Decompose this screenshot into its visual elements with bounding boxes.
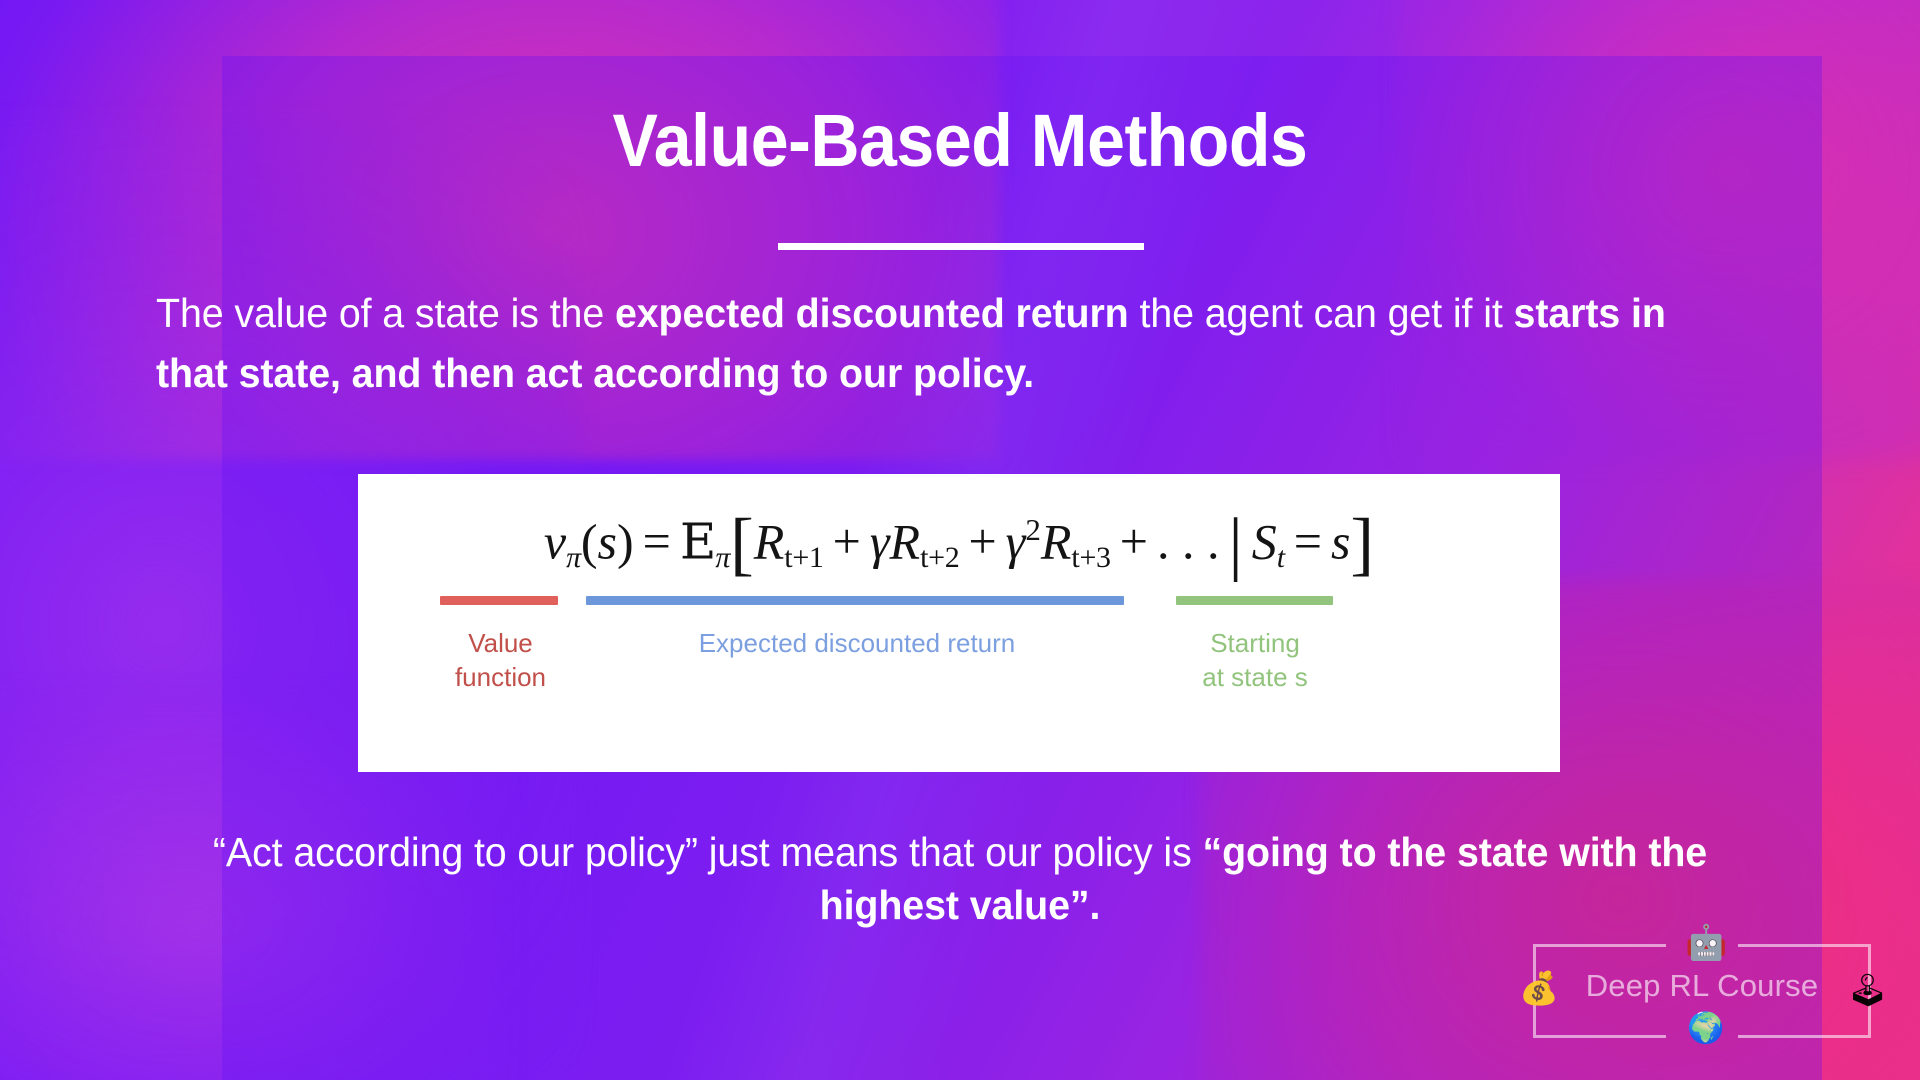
formula-token-equals-2: = <box>1285 513 1331 569</box>
formula-token-equals: = <box>634 513 680 569</box>
conclusion-paragraph: “Act according to our policy” just means… <box>192 826 1728 933</box>
formula-token-R2: R <box>890 513 921 569</box>
intro-paragraph-run-2: the agent can get if it <box>1129 290 1514 336</box>
formula-token-gamma-2: γ <box>1006 513 1026 569</box>
money-bag-icon: 💰 <box>1519 972 1559 1004</box>
formula-token-S-sub: t <box>1277 541 1285 574</box>
formula-token-pi-sub: π <box>566 541 581 574</box>
annotation-expected-discounted-return: Expected discounted return <box>658 626 1056 660</box>
formula-token-s-arg: s <box>598 513 617 569</box>
formula-token-R1-sub: t+1 <box>784 541 823 574</box>
formula-token-plus-2: + <box>959 513 1005 569</box>
annotation-expected-discounted-return-line1: Expected discounted return <box>658 626 1056 660</box>
annotation-starting-at-state: Starting at state s <box>1120 626 1390 695</box>
formula-token-v: v <box>544 513 566 569</box>
formula-token-plus-1: + <box>824 513 870 569</box>
intro-paragraph: The value of a state is the expected dis… <box>156 284 1692 404</box>
formula-token-gamma-exponent: 2 <box>1025 512 1041 547</box>
intro-paragraph-run-0: The value of a state is the <box>156 290 615 336</box>
formula-token-close-paren: ) <box>617 513 634 569</box>
watermark-deep-rl-course: Deep RL Course 🤖 💰 🌍 🕹 <box>1516 930 1888 1046</box>
underline-bar-starting-state <box>1176 596 1333 605</box>
formula-token-S: S <box>1252 513 1277 569</box>
watermark-label: Deep RL Course <box>1516 968 1888 1004</box>
slide-content: Value-Based Methods The value of a state… <box>0 0 1920 1080</box>
formula-token-R1: R <box>754 513 785 569</box>
annotation-value-function: Value function <box>398 626 603 695</box>
formula-token-open-paren: ( <box>581 513 598 569</box>
formula-token-bracket-open: [ <box>730 505 754 583</box>
formula-token-R3-sub: t+3 <box>1071 541 1110 574</box>
globe-icon: 🌍 <box>1687 1014 1724 1044</box>
formula-token-R2-sub: t+2 <box>920 541 959 574</box>
underline-bar-value-function <box>440 596 558 605</box>
value-function-equation: vπ(s)=Eπ[Rt+1+γRt+2+γ2Rt+3+. . .|St=s] <box>358 504 1560 585</box>
annotation-value-function-line1: Value <box>398 626 603 660</box>
formula-token-R3: R <box>1041 513 1072 569</box>
conclusion-paragraph-run-0: “Act according to our policy” just means… <box>213 829 1203 875</box>
slide-canvas: Value-Based Methods The value of a state… <box>0 0 1920 1080</box>
formula-token-plus-3: + <box>1111 513 1157 569</box>
title-divider <box>778 243 1144 250</box>
intro-paragraph-run-1: expected discounted return <box>615 290 1129 336</box>
formula-token-expectation-sub: π <box>715 541 730 574</box>
formula-card: vπ(s)=Eπ[Rt+1+γRt+2+γ2Rt+3+. . .|St=s] V… <box>358 474 1560 772</box>
joystick-icon: 🕹 <box>1847 974 1888 1006</box>
underline-bar-expected-return <box>586 596 1124 605</box>
annotation-starting-at-state-line1: Starting <box>1120 626 1390 660</box>
robot-icon: 🤖 <box>1685 926 1727 960</box>
formula-token-bracket-close: ] <box>1350 505 1374 583</box>
page-title: Value-Based Methods <box>77 102 1843 180</box>
formula-token-s-value: s <box>1331 513 1350 569</box>
annotation-value-function-line2: function <box>398 660 603 694</box>
annotation-starting-at-state-line2: at state s <box>1120 660 1390 694</box>
formula-token-expectation: E <box>680 512 716 570</box>
formula-token-gamma-1: γ <box>870 513 890 569</box>
formula-token-conditional-bar: | <box>1219 505 1251 583</box>
formula-token-ellipsis: . . . <box>1157 513 1220 569</box>
